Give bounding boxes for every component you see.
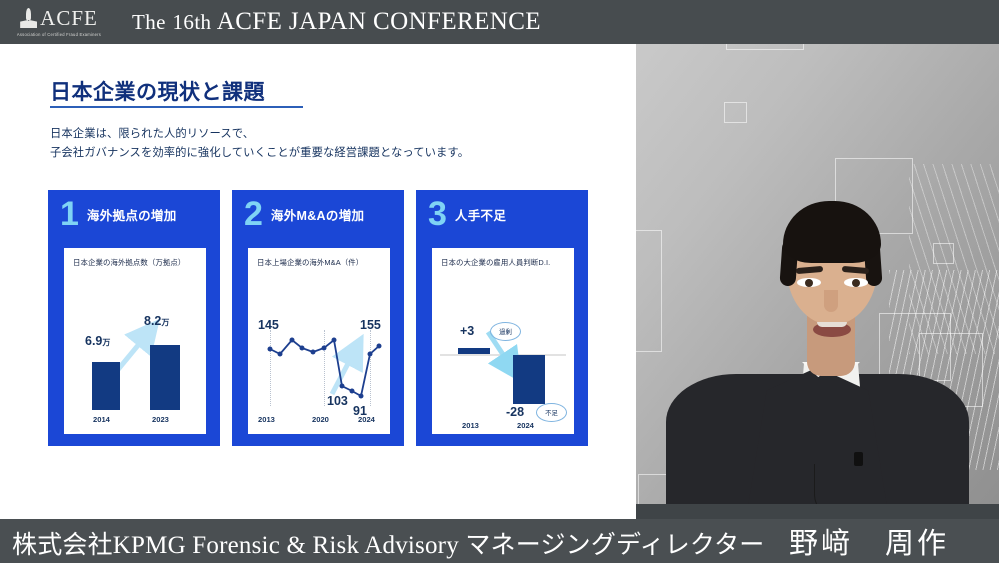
point-label-2020: 103 (327, 394, 348, 408)
screen: ACFE Association of Certified Fraud Exam… (0, 0, 999, 563)
chart-2-title: 日本上場企業の海外M&A（件） (257, 257, 363, 268)
card-1-header: 1 海外拠点の増加 (50, 192, 218, 236)
speaker-figure (636, 44, 999, 519)
banner-text: 株式会社KPMG Forensic & Risk Advisory マネージング… (12, 520, 949, 562)
bar-2023 (150, 345, 180, 410)
chart-2-plot: 145 103 91 155 2013 2020 2024 (248, 274, 390, 434)
presentation-slide: 日本企業の現状と課題 日本企業は、限られた人的リソースで、 子会社ガバナンスを効… (0, 44, 636, 504)
lapel-microphone (854, 452, 863, 466)
card-2-number: 2 (244, 197, 263, 231)
acfe-logo: ACFE Association of Certified Fraud Exam… (0, 0, 118, 44)
card-labor-shortage: 3 人手不足 日本の大企業の雇用人員判断D.I. +3 -28 (416, 190, 588, 446)
card-2-chart: 日本上場企業の海外M&A（件） (248, 248, 390, 434)
xtick-2024-di: 2024 (517, 421, 534, 430)
chart-3-title: 日本の大企業の雇用人員判断D.I. (441, 257, 550, 268)
xtick-2013-di: 2013 (462, 421, 479, 430)
bar-label-2014: 6.9万 (85, 334, 110, 348)
hair (783, 201, 881, 263)
badge-surplus: 過剰 (490, 322, 521, 341)
torch-book-icon (20, 8, 37, 28)
conference-title: The 16th ACFE JAPAN CONFERENCE (132, 8, 541, 36)
card-1-label: 海外拠点の増加 (87, 205, 177, 224)
card-2-label: 海外M&Aの増加 (271, 205, 364, 224)
card-3-label: 人手不足 (455, 205, 506, 224)
card-2-header: 2 海外M&Aの増加 (234, 192, 402, 236)
card-overseas-ma: 2 海外M&Aの増加 日本上場企業の海外M&A（件） (232, 190, 404, 446)
conference-title-ordinal: 16th (173, 10, 212, 34)
xtick-2020: 2020 (312, 415, 329, 424)
eye-right (844, 278, 868, 287)
slide-title: 日本企業の現状と課題 (50, 76, 265, 106)
banner-speaker-name: 野﨑 周作 (789, 528, 949, 560)
acfe-logo-tagline: Association of Certified Fraud Examiners (17, 32, 101, 37)
point-label-2013: 145 (258, 318, 279, 332)
bar-2024 (513, 355, 545, 404)
speaker-name-banner: 株式会社KPMG Forensic & Risk Advisory マネージング… (0, 519, 999, 563)
acfe-logo-text: ACFE (40, 8, 98, 29)
slide-bottom-margin (0, 504, 636, 519)
speaker-video (636, 44, 999, 519)
card-1-chart: 日本企業の海外拠点数（万拠点） 6.9万 8.2万 (64, 248, 206, 434)
xtick-2024: 2024 (358, 415, 375, 424)
card-3-number: 3 (428, 197, 447, 231)
card-3-header: 3 人手不足 (418, 192, 586, 236)
banner-company-role: 株式会社KPMG Forensic & Risk Advisory マネージング… (12, 532, 765, 559)
acfe-logo-mark: ACFE (20, 8, 98, 29)
card-3-chart: 日本の大企業の雇用人員判断D.I. +3 -28 過剰 (432, 248, 574, 434)
bar-label-2023: 8.2万 (144, 314, 169, 328)
point-label-2024: 155 (360, 318, 381, 332)
title-underline (50, 106, 303, 108)
card-1-number: 1 (60, 197, 79, 231)
card-overseas-bases: 1 海外拠点の増加 日本企業の海外拠点数（万拠点） 6.9万 (48, 190, 220, 446)
conference-header: ACFE Association of Certified Fraud Exam… (0, 0, 999, 44)
bar-2013 (458, 348, 490, 354)
conference-title-prefix: The (132, 10, 166, 34)
growth-arrow-icon (64, 274, 206, 434)
bar-2014 (92, 362, 120, 410)
xtick-2013: 2013 (258, 415, 275, 424)
xtick-2014: 2014 (93, 415, 110, 424)
chart-1-plot: 6.9万 8.2万 2014 2023 (64, 274, 206, 434)
xtick-2023: 2023 (152, 415, 169, 424)
video-bottom-margin (636, 504, 999, 519)
badge-shortage: 不足 (536, 403, 567, 422)
eye-left (797, 278, 821, 287)
bar-label-2024: -28 (506, 405, 524, 419)
chart-3-plot: +3 -28 過剰 不足 2013 2024 (432, 274, 574, 434)
mouth (813, 322, 851, 337)
slide-body-line-1: 日本企業は、限られた人的リソースで、 (50, 125, 469, 144)
chart-1-title: 日本企業の海外拠点数（万拠点） (73, 257, 185, 268)
bar-label-2013: +3 (460, 324, 474, 338)
conference-title-main: ACFE JAPAN CONFERENCE (217, 8, 541, 35)
nose (824, 290, 838, 312)
slide-body-line-2: 子会社ガバナンスを効率的に強化していくことが重要な経営課題となっています。 (50, 144, 469, 163)
slide-body-text: 日本企業は、限られた人的リソースで、 子会社ガバナンスを効率的に強化していくこと… (50, 125, 469, 162)
